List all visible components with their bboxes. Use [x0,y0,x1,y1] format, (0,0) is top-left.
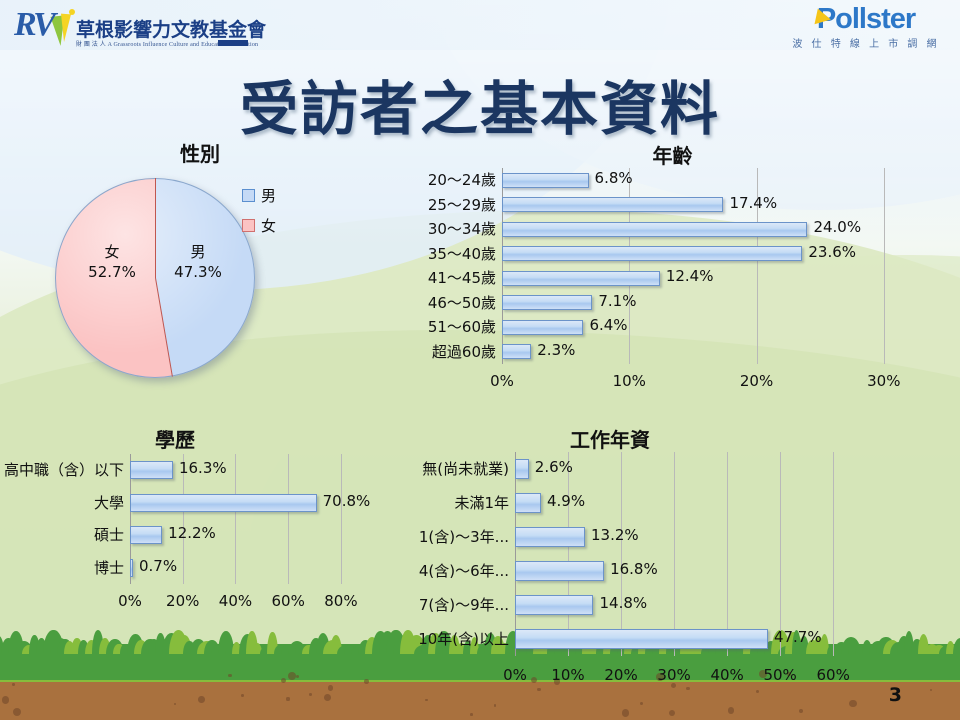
grass-tuft [323,640,343,654]
chart-education-title: 學歷 [0,424,370,453]
category-label: 10年(含)以上 [389,628,509,649]
logo-underline [218,40,248,46]
bar-value-label: 12.2% [168,524,216,542]
pie-divider [155,178,156,278]
grass-tuft [302,645,316,654]
grass-tuft [22,645,37,654]
soil-pebble [728,707,734,713]
bar [502,222,807,237]
gridline [341,454,342,584]
soil-pebble [228,674,231,677]
soil-pebble [849,700,857,708]
legend-swatch-female [242,219,255,232]
grass-tuft [225,644,244,654]
category-label: 博士 [0,557,124,578]
axis-tick-label: 80% [311,592,371,610]
grass-tuft [120,644,130,654]
gridline [674,452,675,656]
logo-dot-icon [69,9,75,15]
chart-education-plot: 16.3%70.8%12.2%0.7% [130,454,372,584]
bar-value-label: 24.0% [813,218,861,236]
bar [130,559,133,577]
soil-pebble [286,697,289,700]
grass-tuft [0,636,4,654]
category-label: 35～40歲 [400,243,496,264]
category-label: 51～60歲 [400,316,496,337]
bar [502,173,589,188]
gridline [621,452,622,656]
bar [130,461,173,479]
grass-tuft [113,644,125,654]
pie-legend: 男 女 [242,180,276,240]
category-label: 4(含)～6年... [389,560,509,581]
grass-tuft [106,639,124,654]
grass-tuft [57,639,73,654]
bar [515,459,529,479]
gridline [568,452,569,656]
page-title: 受訪者之基本資料 [0,62,960,146]
grass-tuft [148,639,160,654]
grass-tuft [316,633,330,654]
chart-education: 學歷 16.3%70.8%12.2%0.7%高中職（含）以下大學碩士博士0%20… [0,424,390,624]
axis-tick-label: 20% [727,372,787,390]
grass-tuft [351,646,367,655]
legend-item-male: 男 [242,180,276,210]
grass-tuft [239,634,256,654]
bar-value-label: 14.8% [599,594,647,612]
gridline [288,454,289,584]
grass-tuft [15,641,33,654]
axis-tick-label: 40% [697,666,757,684]
grass-tuft [281,645,294,654]
grass-tuft [190,639,207,654]
chart-age: 年齡 6.8%17.4%24.0%23.6%12.4%7.1%6.4%2.3%2… [400,140,945,405]
axis-tick-label: 30% [644,666,704,684]
grass-tuft [127,634,144,654]
category-label: 未滿1年 [389,492,509,513]
grass-tuft [295,643,304,654]
grass-tuft [85,640,98,654]
bar-value-label: 17.4% [729,194,777,212]
bar [130,526,162,544]
logo-name-cn: 草根影響力文教基金會 [76,15,266,42]
pollster-subtitle: 波 仕 特 線 上 市 調 網 [780,35,952,50]
grass-tuft [176,635,192,654]
legend-swatch-male [242,189,255,202]
chart-work-plot: 2.6%4.9%13.2%16.8%14.8%47.7% [515,452,875,656]
value-axis-line [515,452,516,656]
grass-tuft [337,645,357,654]
soil-pebble [328,685,334,691]
gridline [727,452,728,656]
pie-chart-area: 男 47.3% 女 52.7% [55,178,257,380]
grass-tuft [330,635,342,654]
bar-value-label: 6.8% [595,169,633,187]
bar [515,561,604,581]
grass-tuft [274,645,286,654]
chart-gender: 性別 男 47.3% 女 52.7% 男 女 [20,138,380,403]
soil-pebble [324,694,331,701]
bar-value-label: 70.8% [323,492,371,510]
category-label: 20～24歲 [400,169,496,190]
chart-age-plot: 6.8%17.4%24.0%23.6%12.4%7.1%6.4%2.3% [502,168,932,364]
grass-tuft [99,638,111,654]
soil-pebble [494,704,497,707]
grass-tuft [204,640,220,654]
axis-tick-label: 0% [472,372,532,390]
grass-tuft [141,639,160,654]
soil-pebble [296,675,299,678]
grass-tuft [92,630,104,654]
bar-value-label: 13.2% [591,526,639,544]
grass-tuft [78,640,89,654]
soil-pebble [174,703,176,705]
chart-work-years: 工作年資 2.6%4.9%13.2%16.8%14.8%47.7%無(尚未就業)… [390,424,950,694]
soil-pebble [622,709,629,716]
category-label: 碩士 [0,524,124,545]
bar [515,527,585,547]
soil-pebble [12,683,15,686]
category-label: 7(含)～9年... [389,594,509,615]
grass-tuft [169,630,188,654]
category-label: 高中職（含）以下 [0,459,124,480]
grass-tuft [71,638,83,654]
grass-tuft [183,641,196,655]
bar [502,197,723,212]
grass-tuft [218,631,234,654]
bar [502,295,592,310]
bar-value-label: 16.8% [610,560,658,578]
grass-tuft [29,635,40,654]
grass-tuft [43,630,64,654]
bar [502,271,660,286]
legend-label-male: 男 [261,185,276,206]
grass-tuft [197,641,217,654]
logo-leaf-yellow-icon [59,14,71,43]
gridline [833,452,834,656]
grass-tuft [232,642,241,654]
grass-tuft [246,631,258,654]
grass-tuft [211,644,232,654]
bar-value-label: 2.3% [537,341,575,359]
grass-tuft [64,641,75,654]
bar [515,595,593,615]
axis-tick-label: 20% [153,592,213,610]
grass-tuft [953,638,960,654]
chart-age-title: 年齡 [400,140,945,169]
soil-pebble [640,702,643,705]
chart-work-title: 工作年資 [330,424,890,453]
bar [515,493,541,513]
bar-value-label: 23.6% [808,243,856,261]
logo-monogram: RV [14,6,53,44]
bar [515,629,768,649]
bar-value-label: 6.4% [589,316,627,334]
bar-value-label: 2.6% [535,458,573,476]
grass-tuft [365,637,379,654]
bar [130,494,317,512]
grass-tuft [1,638,16,654]
grass-tuft [267,632,278,654]
axis-tick-label: 10% [599,372,659,390]
axis-tick-label: 30% [854,372,914,390]
grass-tuft [358,640,373,654]
gridline [780,452,781,656]
pollster-logo: Pollster 波 仕 特 線 上 市 調 網 [780,4,952,50]
category-label: 25～29歲 [400,194,496,215]
legend-label-female: 女 [261,215,276,236]
slide-canvas: RV 草根影響力文教基金會 財 團 法 人 A Grassroots Influ… [0,0,960,720]
axis-tick-label: 0% [100,592,160,610]
axis-tick-label: 60% [258,592,318,610]
bar-value-label: 16.3% [179,459,227,477]
gridline [235,454,236,584]
grass-tuft [36,638,47,654]
legend-item-female: 女 [242,210,276,240]
bar-value-label: 12.4% [666,267,714,285]
category-label: 超過60歲 [400,341,496,362]
soil-pebble [241,694,244,697]
grass-tuft [50,638,70,654]
grass-tuft [260,646,275,654]
axis-tick-label: 50% [750,666,810,684]
bar [502,246,802,261]
category-label: 41～45歲 [400,267,496,288]
pie-label-male: 男 47.3% [159,242,237,282]
soil-pebble [198,696,205,703]
grass-tuft [344,645,355,654]
category-label: 無(尚未就業) [389,458,509,479]
bar [502,320,583,335]
soil-pebble [2,696,10,704]
bar-value-label: 7.1% [598,292,636,310]
soil-pebble [288,672,296,680]
soil-pebble [799,709,803,713]
grass-tuft [372,631,389,654]
grass-tuft [288,641,306,654]
soil-pebble [281,678,286,683]
axis-tick-label: 40% [205,592,265,610]
grass-tuft [134,640,148,654]
soil-pebble [669,710,675,716]
soil-pebble [13,708,21,716]
soil-pebble [309,693,312,696]
category-label: 1(含)～3年... [389,526,509,547]
grass-tuft [253,643,262,654]
soil-pebble [425,699,428,702]
grass-tuft [155,633,166,654]
axis-tick-label: 0% [485,666,545,684]
category-label: 大學 [0,492,124,513]
category-label: 46～50歲 [400,292,496,313]
page-number: 3 [889,684,902,706]
pollster-wordmark: Pollster [817,4,915,34]
grass-tuft [162,633,181,654]
soil-pebble [470,713,473,716]
chart-gender-title: 性別 [20,138,380,167]
pie-label-female: 女 52.7% [73,242,151,282]
soil-pebble [364,679,368,683]
axis-tick-label: 20% [591,666,651,684]
bar-value-label: 4.9% [547,492,585,510]
grass-tuft [8,631,24,654]
gridline [884,168,885,364]
bar [502,344,531,359]
bar-value-label: 0.7% [139,557,177,575]
grass-tuft [309,638,323,654]
axis-tick-label: 60% [803,666,863,684]
bar-value-label: 47.7% [774,628,822,646]
axis-tick-label: 10% [538,666,598,684]
category-label: 30～34歲 [400,218,496,239]
foundation-logo: RV 草根影響力文教基金會 財 團 法 人 A Grassroots Influ… [12,6,244,52]
